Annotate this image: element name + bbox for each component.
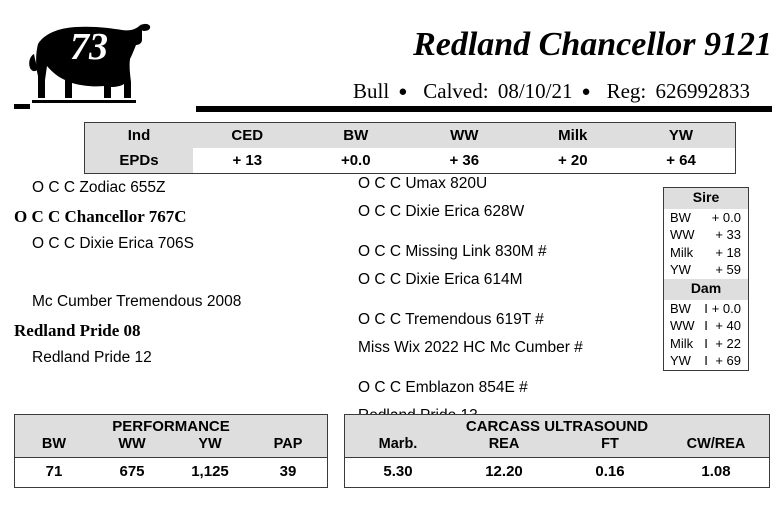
animal-subtitle: Bull●Calved: 08/10/21●Reg: 626992833 [180,80,752,102]
catalog-page: 73 Redland Chancellor 9121 Bull●Calved: … [0,0,784,511]
performance-value-row: 71 675 1,125 39 [15,458,327,487]
carcass-ultrasound-table: CARCASS ULTRASOUND Marb. REA FT CW/REA 5… [344,414,770,488]
sire-epd-key: WW [670,228,702,242]
sire-epd-bar [702,211,710,225]
epd-col-ww: WW [410,123,519,149]
epd-value-bw: +0.0 [302,148,411,174]
pedigree-entry: Redland Pride 08 [0,322,350,350]
epd-col-ced: CED [193,123,302,149]
sire-epd-bar [702,263,710,277]
dam-epd-key: WW [670,319,702,333]
bullet-separator-icon-2: ● [575,84,598,100]
sire-dam-epd-box: Sire BW + 0.0 WW + 33 Milk + 18 YW + 59 … [663,187,749,371]
dam-epd-value: + 69 [710,354,743,368]
epd-value-ww: + 36 [410,148,519,174]
lot-number: 73 [70,28,108,66]
epd-header-row: Ind CED BW WW Milk YW [85,123,736,149]
pedigree-entry: O C C Dixie Erica 628W [356,204,656,232]
performance-value-ww: 675 [93,462,171,482]
pedigree-entry: O C C Umax 820U [356,176,656,204]
performance-value-yw: 1,125 [171,462,249,482]
pedigree-entry: O C C Dixie Erica 614M [356,272,656,300]
dam-epd-row: Milk I + 22 [664,335,748,353]
performance-col-bw: BW [15,435,93,454]
performance-col-yw: YW [171,435,249,454]
carcass-header-row: Marb. REA FT CW/REA [345,435,769,458]
carcass-col-ft: FT [557,435,663,454]
dam-epd-value: + 0.0 [710,302,743,316]
pedigree-entry: Miss Wix 2022 HC Mc Cumber # [356,340,656,368]
reg-label: Reg: [598,79,649,103]
dam-section-title: Dam [664,279,748,300]
epd-col-yw: YW [627,123,736,149]
dam-epd-row: BW I + 0.0 [664,300,748,318]
reg-number: 626992833 [654,79,753,103]
sire-epd-row: BW + 0.0 [664,209,748,227]
sire-epd-row: WW + 33 [664,226,748,244]
performance-col-pap: PAP [249,435,327,454]
sex-label: Bull [351,79,391,103]
sire-epd-key: BW [670,211,702,225]
carcass-col-marb: Marb. [345,435,451,454]
header-divider [196,106,772,112]
epd-col-bw: BW [302,123,411,149]
sire-epd-row: YW + 59 [664,261,748,279]
dam-epd-key: YW [670,354,702,368]
epd-value-yw: + 64 [627,148,736,174]
calved-label: Calved: [414,79,490,103]
pedigree-entry: O C C Tremendous 619T # [356,312,656,340]
sire-epd-row: Milk + 18 [664,244,748,262]
dam-epd-bar: I [702,302,710,316]
performance-value-pap: 39 [249,462,327,482]
carcass-col-rea: REA [451,435,557,454]
pedigree-middle-column: O C C Umax 820U O C C Dixie Erica 628W O… [356,176,656,436]
pedigree-entry: O C C Zodiac 655Z [0,180,350,208]
pedigree-entry: Redland Pride 12 [0,350,350,378]
calved-date: 08/10/21 [496,79,575,103]
carcass-value-cwrea: 1.08 [663,462,769,482]
carcass-value-row: 5.30 12.20 0.16 1.08 [345,458,769,487]
epd-row-label-body: EPDs [85,148,194,174]
epd-col-milk: Milk [519,123,628,149]
pedigree-entry: Mc Cumber Tremendous 2008 [0,294,350,322]
sire-epd-value: + 33 [710,228,743,242]
epd-table: Ind CED BW WW Milk YW EPDs + 13 +0.0 + 3… [84,122,736,174]
epd-value-row: EPDs + 13 +0.0 + 36 + 20 + 64 [85,148,736,174]
carcass-title: CARCASS ULTRASOUND [345,415,769,435]
epd-value-milk: + 20 [519,148,628,174]
performance-value-bw: 71 [15,462,93,482]
dam-epd-row: WW I + 40 [664,317,748,335]
dam-epd-bar: I [702,354,710,368]
performance-title: PERFORMANCE [15,415,327,435]
dam-epd-key: Milk [670,337,702,351]
dam-epd-key: BW [670,302,702,316]
pedigree-entry: O C C Chancellor 767C [0,208,350,236]
pedigree-entry: O C C Emblazon 854E # [356,380,656,408]
header-divider-stub [14,104,30,109]
dam-epd-bar: I [702,337,710,351]
carcass-col-cwrea: CW/REA [663,435,769,454]
sire-epd-value: + 0.0 [710,211,743,225]
performance-header-row: BW WW YW PAP [15,435,327,458]
carcass-value-marb: 5.30 [345,462,451,482]
sire-epd-bar [702,228,710,242]
epd-value-ced: + 13 [193,148,302,174]
dam-epd-value: + 40 [710,319,743,333]
sire-epd-value: + 59 [710,263,743,277]
performance-table: PERFORMANCE BW WW YW PAP 71 675 1,125 39 [14,414,328,488]
sire-section-title: Sire [664,188,748,209]
dam-epd-bar: I [702,319,710,333]
carcass-value-ft: 0.16 [557,462,663,482]
dam-epd-value: + 22 [710,337,743,351]
bullet-separator-icon: ● [391,84,414,100]
pedigree-entry: O C C Dixie Erica 706S [0,236,350,264]
pedigree-left-column: O C C Zodiac 655Z O C C Chancellor 767C … [0,180,350,378]
pedigree-spacer [0,264,350,294]
sire-epd-key: Milk [670,246,702,260]
epd-row-label-head: Ind [85,123,194,149]
performance-col-ww: WW [93,435,171,454]
page-title: Redland Chancellor 9121 [180,27,772,63]
sire-epd-value: + 18 [710,246,743,260]
sire-epd-key: YW [670,263,702,277]
carcass-value-rea: 12.20 [451,462,557,482]
pedigree-entry: O C C Missing Link 830M # [356,244,656,272]
sire-epd-bar [702,246,710,260]
dam-epd-row: YW I + 69 [664,352,748,370]
